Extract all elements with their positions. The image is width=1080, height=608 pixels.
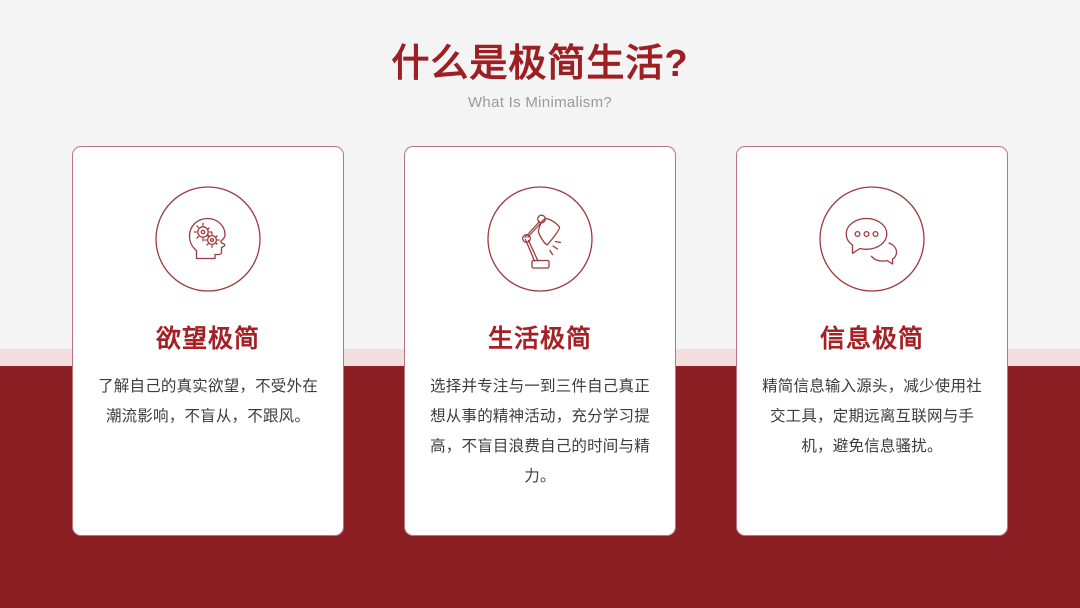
card-body-text: 了解自己的真实欲望，不受外在潮流影响，不盲从，不跟风。 xyxy=(96,372,320,432)
page-title: 什么是极简生活? xyxy=(0,40,1080,88)
card-information-minimalism[interactable]: 信息极简 精简信息输入源头，减少使用社交工具，定期远离互联网与手机，避免信息骚扰… xyxy=(736,146,1008,536)
title-block: 什么是极简生活? What Is Minimalism? xyxy=(0,40,1080,114)
card-title: 欲望极简 xyxy=(156,322,260,356)
card-body-text: 精简信息输入源头，减少使用社交工具，定期远离互联网与手机，避免信息骚扰。 xyxy=(760,372,984,462)
card-list: 欲望极简 了解自己的真实欲望，不受外在潮流影响，不盲从，不跟风。 生活极简 选择… xyxy=(72,146,1008,536)
card-title: 生活极简 xyxy=(488,322,592,356)
page-subtitle: What Is Minimalism? xyxy=(0,92,1080,114)
card-title: 信息极简 xyxy=(820,322,924,356)
speech-bubbles-icon xyxy=(813,180,931,298)
head-gears-icon xyxy=(149,180,267,298)
card-body-text: 选择并专注与一到三件自己真正想从事的精神活动，充分学习提高，不盲目浪费自己的时间… xyxy=(428,372,652,492)
slide: 什么是极简生活? What Is Minimalism? 欲望极简 了解自己的真… xyxy=(0,0,1080,608)
desk-lamp-icon xyxy=(481,180,599,298)
card-desire-minimalism[interactable]: 欲望极简 了解自己的真实欲望，不受外在潮流影响，不盲从，不跟风。 xyxy=(72,146,344,536)
card-life-minimalism[interactable]: 生活极简 选择并专注与一到三件自己真正想从事的精神活动，充分学习提高，不盲目浪费… xyxy=(404,146,676,536)
